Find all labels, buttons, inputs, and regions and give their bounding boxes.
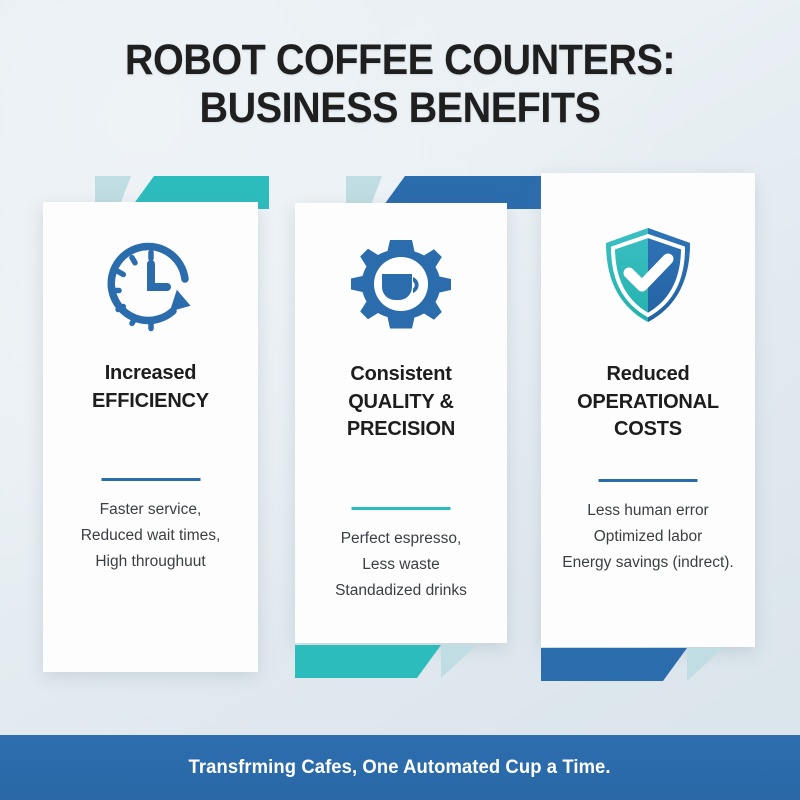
- body-line-3: Energy savings (indrect).: [541, 550, 755, 576]
- card-1-body: Faster service, Reduced wait times, High…: [43, 497, 258, 575]
- benefit-card-costs[interactable]: Reduced OPERATIONAL COSTS Less human err…: [541, 173, 755, 647]
- title-line-1: ROBOT COFFEE COUNTERS:: [32, 36, 768, 84]
- body-line-1: Less human error: [541, 498, 755, 524]
- heading-line-1: Increased: [43, 360, 258, 388]
- card-2-divider: [352, 507, 451, 510]
- body-line-1: Faster service,: [43, 497, 258, 523]
- heading-line-3: PRECISION: [295, 416, 507, 444]
- heading-line-2: QUALITY &: [295, 389, 507, 417]
- heading-line-2: EFFICIENCY: [43, 388, 258, 416]
- clock-arrow-icon: [43, 232, 258, 342]
- shield-check-icon: [541, 220, 755, 330]
- footer-bar: Transfrming Cafes, One Automated Cup a T…: [0, 735, 800, 800]
- accent-bar: [295, 645, 441, 678]
- card-2-heading: Consistent QUALITY & PRECISION: [295, 361, 507, 444]
- footer-tagline: Transfrming Cafes, One Automated Cup a T…: [189, 757, 611, 779]
- benefit-card-efficiency[interactable]: Increased EFFICIENCY Faster service, Red…: [43, 202, 258, 672]
- body-line-2: Less waste: [295, 552, 507, 578]
- benefit-card-quality[interactable]: Consistent QUALITY & PRECISION Perfect e…: [295, 203, 507, 643]
- body-line-1: Perfect espresso,: [295, 526, 507, 552]
- infographic-poster: ROBOT COFFEE COUNTERS: BUSINESS BENEFITS: [0, 0, 800, 800]
- card-3-divider: [599, 479, 698, 482]
- card-3-heading: Reduced OPERATIONAL COSTS: [541, 361, 755, 444]
- card-1-heading: Increased EFFICIENCY: [43, 360, 258, 415]
- card-1-divider: [101, 478, 200, 481]
- card-2-bottom-accent-ribbon: [295, 645, 441, 678]
- body-line-3: High throughuut: [43, 549, 258, 575]
- heading-line-2: OPERATIONAL: [541, 389, 755, 417]
- card-3-body: Less human error Optimized labor Energy …: [541, 498, 755, 576]
- page-title: ROBOT COFFEE COUNTERS: BUSINESS BENEFITS: [0, 36, 800, 132]
- body-line-2: Optimized labor: [541, 524, 755, 550]
- heading-line-1: Consistent: [295, 361, 507, 389]
- body-line-3: Standadized drinks: [295, 578, 507, 604]
- accent-bar: [541, 648, 687, 681]
- heading-line-1: Reduced: [541, 361, 755, 389]
- card-2-body: Perfect espresso, Less waste Standadized…: [295, 526, 507, 604]
- accent-triangle: [687, 648, 723, 681]
- accent-triangle: [441, 645, 477, 678]
- body-line-2: Reduced wait times,: [43, 523, 258, 549]
- title-line-2: BUSINESS BENEFITS: [32, 84, 768, 132]
- gear-coffee-cup-icon: [295, 233, 507, 343]
- heading-line-3: COSTS: [541, 416, 755, 444]
- card-3-bottom-accent-ribbon: [541, 648, 687, 681]
